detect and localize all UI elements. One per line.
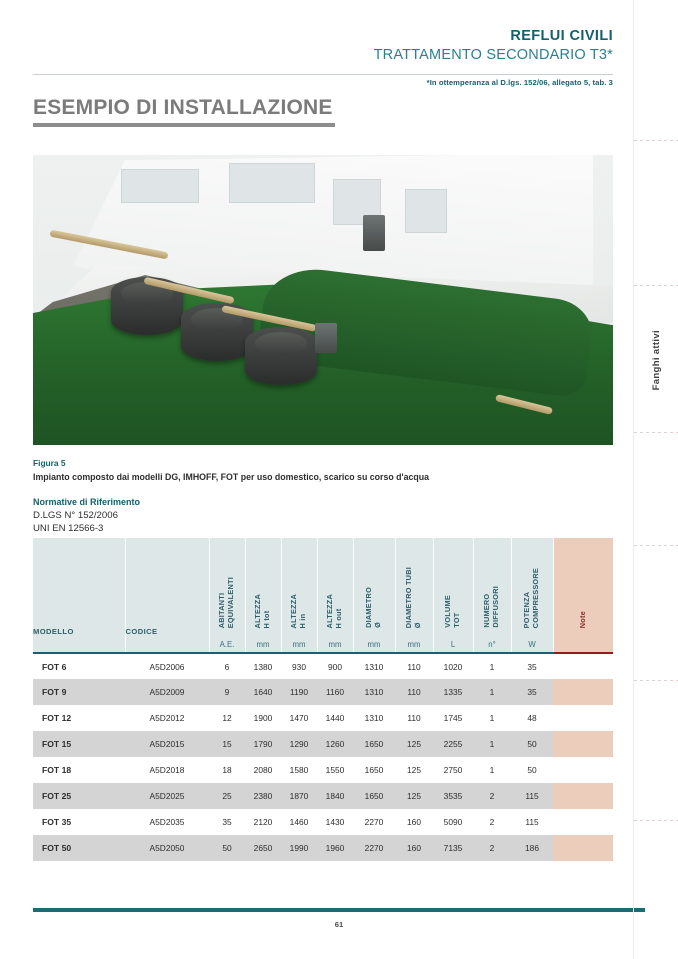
unit-diametro-tubi: mm — [395, 636, 433, 653]
col-header-note: Note — [553, 538, 613, 636]
cell-modello: FOT 9 — [33, 679, 125, 705]
cell-h_in: 1580 — [281, 757, 317, 783]
unit-altezza-h-in: mm — [281, 636, 317, 653]
cell-modello: FOT 25 — [33, 783, 125, 809]
table-row: FOT 18A5D2018182080158015501650125275015… — [33, 757, 613, 783]
cell-diffusori: 2 — [473, 835, 511, 861]
unit-note — [553, 636, 613, 653]
cell-codice: A5D2018 — [125, 757, 209, 783]
cell-diam_tubi: 110 — [395, 705, 433, 731]
cell-ae: 12 — [209, 705, 245, 731]
side-tab-label: Fanghi attivi — [651, 330, 662, 390]
cell-diametro: 1310 — [353, 705, 395, 731]
col-header-diametro-tubi: DIAMETRO TUBI Ø — [395, 538, 433, 636]
figure-caption-block: Figura 5 Impianto composto dai modelli D… — [33, 458, 429, 483]
installation-illustration — [33, 155, 613, 445]
header-divider — [33, 74, 613, 75]
cell-h_tot: 2120 — [245, 809, 281, 835]
cell-codice: A5D2012 — [125, 705, 209, 731]
cell-h_out: 1550 — [317, 757, 353, 783]
cell-h_tot: 1900 — [245, 705, 281, 731]
cell-codice: A5D2050 — [125, 835, 209, 861]
cell-note — [553, 679, 613, 705]
normative-line-1: D.LGS N° 152/2006 — [33, 509, 140, 523]
cell-volume: 1020 — [433, 653, 473, 679]
cell-h_out: 1440 — [317, 705, 353, 731]
tab-divider-3 — [634, 432, 678, 433]
cell-potenza: 115 — [511, 783, 553, 809]
cell-diffusori: 2 — [473, 809, 511, 835]
footer-rule — [33, 908, 645, 912]
cell-diam_tubi: 125 — [395, 757, 433, 783]
cell-diametro: 1310 — [353, 653, 395, 679]
cell-volume: 7135 — [433, 835, 473, 861]
table-row: FOT 9A5D2009916401190116013101101335135 — [33, 679, 613, 705]
cell-codice: A5D2006 — [125, 653, 209, 679]
room-kitchen — [121, 169, 199, 203]
cell-ae: 9 — [209, 679, 245, 705]
col-header-note-text: Note — [579, 611, 588, 628]
cell-diam_tubi: 110 — [395, 653, 433, 679]
title-underline — [33, 123, 335, 127]
cell-ae: 50 — [209, 835, 245, 861]
tab-divider-5 — [634, 680, 678, 681]
specifications-table: MODELLO CODICE ABITANTI EQUIVALENTI ALTE… — [33, 538, 613, 861]
cell-codice: A5D2035 — [125, 809, 209, 835]
cell-h_tot: 2080 — [245, 757, 281, 783]
tank-fot — [245, 327, 317, 385]
cell-h_in: 1190 — [281, 679, 317, 705]
cell-h_in: 1290 — [281, 731, 317, 757]
normative-line-2: UNI EN 12566-3 — [33, 522, 140, 536]
cell-diam_tubi: 125 — [395, 731, 433, 757]
cell-diametro: 1650 — [353, 731, 395, 757]
cell-diametro: 1310 — [353, 679, 395, 705]
col-header-numero-diffusori: NUMERO DIFFUSORI — [473, 538, 511, 636]
cell-ae: 6 — [209, 653, 245, 679]
unit-volume-tot: L — [433, 636, 473, 653]
unit-numero-diffusori: n° — [473, 636, 511, 653]
cell-potenza: 186 — [511, 835, 553, 861]
normative-title: Normative di Riferimento — [33, 496, 140, 509]
normative-block: Normative di Riferimento D.LGS N° 152/20… — [33, 496, 140, 536]
cell-diffusori: 1 — [473, 679, 511, 705]
col-header-volume-tot: VOLUME TOT — [433, 538, 473, 636]
unit-codice — [125, 636, 209, 653]
tab-divider-2 — [634, 285, 678, 286]
cell-ae: 35 — [209, 809, 245, 835]
room-bathroom — [229, 163, 315, 203]
cell-h_tot: 2650 — [245, 835, 281, 861]
col-header-altezza-h-out: ALTEZZA H out — [317, 538, 353, 636]
cell-h_out: 900 — [317, 653, 353, 679]
cell-diametro: 2270 — [353, 809, 395, 835]
thumb-index-column: Fanghi attivi — [633, 0, 678, 959]
cell-h_tot: 2380 — [245, 783, 281, 809]
col-header-modello: MODELLO — [33, 538, 125, 636]
cell-modello: FOT 15 — [33, 731, 125, 757]
cell-h_out: 1260 — [317, 731, 353, 757]
cell-diametro: 1650 — [353, 783, 395, 809]
table-header-row: MODELLO CODICE ABITANTI EQUIVALENTI ALTE… — [33, 538, 613, 636]
col-header-abitanti-equivalenti-text: ABITANTI EQUIVALENTI — [218, 577, 236, 628]
table-row: FOT 6A5D20066138093090013101101020135 — [33, 653, 613, 679]
cell-potenza: 48 — [511, 705, 553, 731]
cell-modello: FOT 12 — [33, 705, 125, 731]
cell-note — [553, 705, 613, 731]
unit-altezza-h-out: mm — [317, 636, 353, 653]
cell-potenza: 50 — [511, 731, 553, 757]
cell-modello: FOT 6 — [33, 653, 125, 679]
col-header-altezza-h-in-text: ALTEZZA H in — [290, 594, 308, 628]
cell-h_out: 1430 — [317, 809, 353, 835]
page-content: REFLUI CIVILI TRATTAMENTO SECONDARIO T3*… — [33, 0, 613, 959]
cell-h_out: 1960 — [317, 835, 353, 861]
page-title: ESEMPIO DI INSTALLAZIONE — [33, 96, 335, 120]
col-header-abitanti-equivalenti: ABITANTI EQUIVALENTI — [209, 538, 245, 636]
document-page: REFLUI CIVILI TRATTAMENTO SECONDARIO T3*… — [0, 0, 678, 959]
table-row: FOT 15A5D2015151790129012601650125225515… — [33, 731, 613, 757]
unit-diametro: mm — [353, 636, 395, 653]
cell-potenza: 115 — [511, 809, 553, 835]
cell-note — [553, 809, 613, 835]
col-header-altezza-h-tot-text: ALTEZZA H tot — [254, 594, 272, 628]
cell-h_tot: 1380 — [245, 653, 281, 679]
page-title-block: ESEMPIO DI INSTALLAZIONE — [33, 96, 335, 127]
cell-ae: 25 — [209, 783, 245, 809]
cell-diffusori: 1 — [473, 653, 511, 679]
side-tab-fanghi-attivi[interactable]: Fanghi attivi — [634, 300, 678, 420]
col-header-diametro-text: DIAMETRO Ø — [365, 587, 383, 628]
unit-modello — [33, 636, 125, 653]
cell-volume: 2750 — [433, 757, 473, 783]
col-header-volume-tot-text: VOLUME TOT — [444, 595, 462, 628]
cell-potenza: 35 — [511, 679, 553, 705]
cell-h_in: 1990 — [281, 835, 317, 861]
cell-note — [553, 783, 613, 809]
cell-diametro: 1650 — [353, 757, 395, 783]
cell-note — [553, 835, 613, 861]
cell-h_in: 1460 — [281, 809, 317, 835]
unit-abitanti-equivalenti: A.E. — [209, 636, 245, 653]
table-unit-row: A.E. mm mm mm mm mm L n° W — [33, 636, 613, 653]
page-header: REFLUI CIVILI TRATTAMENTO SECONDARIO T3* — [374, 28, 613, 64]
col-header-potenza-compressore-text: POTENZA COMPRESSORE — [523, 568, 541, 628]
cell-volume: 5090 — [433, 809, 473, 835]
room-wc — [405, 189, 447, 233]
cell-h_in: 930 — [281, 653, 317, 679]
cell-volume: 1745 — [433, 705, 473, 731]
cell-diam_tubi: 125 — [395, 783, 433, 809]
cell-diametro: 2270 — [353, 835, 395, 861]
cell-diam_tubi: 160 — [395, 835, 433, 861]
cell-modello: FOT 50 — [33, 835, 125, 861]
unit-potenza-compressore: W — [511, 636, 553, 653]
cell-volume: 3535 — [433, 783, 473, 809]
cell-codice: A5D2015 — [125, 731, 209, 757]
cell-codice: A5D2025 — [125, 783, 209, 809]
cell-potenza: 35 — [511, 653, 553, 679]
cell-diffusori: 1 — [473, 705, 511, 731]
cell-volume: 1335 — [433, 679, 473, 705]
col-header-numero-diffusori-text: NUMERO DIFFUSORI — [483, 586, 501, 628]
cell-diam_tubi: 160 — [395, 809, 433, 835]
header-line-1: REFLUI CIVILI — [374, 28, 613, 45]
cell-note — [553, 757, 613, 783]
col-header-altezza-h-in: ALTEZZA H in — [281, 538, 317, 636]
col-header-altezza-h-out-text: ALTEZZA H out — [326, 594, 344, 628]
tab-divider-1 — [634, 140, 678, 141]
table-row: FOT 35A5D2035352120146014302270160509021… — [33, 809, 613, 835]
cell-codice: A5D2009 — [125, 679, 209, 705]
header-footnote: *In ottemperanza al D.lgs. 152/06, alleg… — [427, 78, 613, 87]
page-number: 61 — [0, 920, 678, 929]
tab-divider-4 — [634, 545, 678, 546]
cell-ae: 18 — [209, 757, 245, 783]
col-header-codice: CODICE — [125, 538, 209, 636]
cell-diffusori: 1 — [473, 757, 511, 783]
cell-h_tot: 1790 — [245, 731, 281, 757]
table-row: FOT 25A5D2025252380187018401650125353521… — [33, 783, 613, 809]
cell-h_out: 1160 — [317, 679, 353, 705]
col-header-potenza-compressore: POTENZA COMPRESSORE — [511, 538, 553, 636]
cell-h_tot: 1640 — [245, 679, 281, 705]
cell-diam_tubi: 110 — [395, 679, 433, 705]
table-row: FOT 50A5D2050502650199019602270160713521… — [33, 835, 613, 861]
unit-altezza-h-tot: mm — [245, 636, 281, 653]
figure-label: Figura 5 — [33, 458, 429, 470]
compressor-unit — [315, 323, 337, 353]
col-header-diametro-tubi-text: DIAMETRO TUBI Ø — [405, 567, 423, 628]
cell-h_in: 1470 — [281, 705, 317, 731]
table-body: FOT 6A5D20066138093090013101101020135FOT… — [33, 653, 613, 861]
cell-diffusori: 1 — [473, 731, 511, 757]
cell-modello: FOT 18 — [33, 757, 125, 783]
cell-h_out: 1840 — [317, 783, 353, 809]
control-panel — [363, 215, 385, 251]
col-header-altezza-h-tot: ALTEZZA H tot — [245, 538, 281, 636]
cell-h_in: 1870 — [281, 783, 317, 809]
table-row: FOT 12A5D2012121900147014401310110174514… — [33, 705, 613, 731]
header-line-2: TRATTAMENTO SECONDARIO T3* — [374, 47, 613, 64]
col-header-diametro: DIAMETRO Ø — [353, 538, 395, 636]
cell-volume: 2255 — [433, 731, 473, 757]
cell-modello: FOT 35 — [33, 809, 125, 835]
cell-note — [553, 731, 613, 757]
cell-diffusori: 2 — [473, 783, 511, 809]
cell-ae: 15 — [209, 731, 245, 757]
cell-potenza: 50 — [511, 757, 553, 783]
cell-note — [553, 653, 613, 679]
figure-caption: Impianto composto dai modelli DG, IMHOFF… — [33, 471, 429, 483]
tab-divider-6 — [634, 820, 678, 821]
